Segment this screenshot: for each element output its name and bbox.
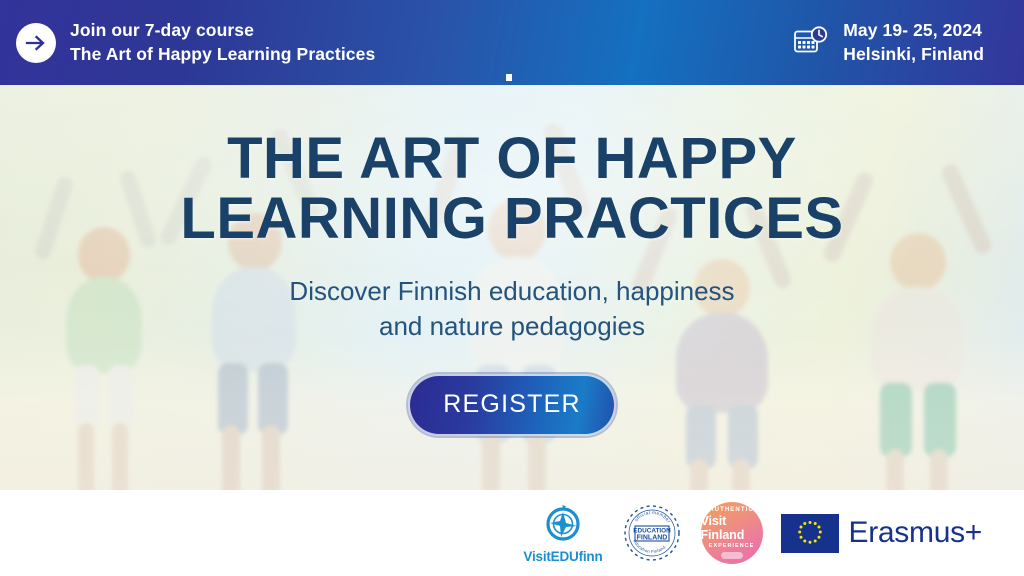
event-dates: May 19- 25, 2024 bbox=[843, 19, 984, 42]
compass-star-icon bbox=[541, 503, 585, 548]
page-title: THE ART OF HAPPY LEARNING PRACTICES bbox=[180, 129, 843, 250]
visit-finland-line-3: EXPERIENCE bbox=[709, 543, 754, 549]
decorative-square bbox=[506, 74, 512, 81]
hero-content: THE ART OF HAPPY LEARNING PRACTICES Disc… bbox=[0, 85, 1024, 490]
logo-education-finland[interactable]: EDUCATION FINLAND official member Educat… bbox=[621, 502, 683, 564]
svg-text:official member: official member bbox=[633, 510, 671, 524]
arrow-right-circle-icon[interactable] bbox=[16, 23, 56, 63]
svg-text:FINLAND: FINLAND bbox=[636, 534, 667, 541]
event-details: May 19- 25, 2024 Helsinki, Finland bbox=[792, 19, 984, 65]
calendar-clock-icon bbox=[792, 24, 830, 62]
course-announcement-text: Join our 7-day course The Art of Happy L… bbox=[70, 19, 375, 65]
page-subtitle: Discover Finnish education, happiness an… bbox=[289, 274, 734, 344]
subtitle-line-1: Discover Finnish education, happiness bbox=[289, 274, 734, 309]
announcement-line-1: Join our 7-day course bbox=[70, 19, 375, 42]
register-button[interactable]: REGISTER bbox=[408, 374, 616, 436]
register-button-wrapper: REGISTER bbox=[408, 374, 616, 436]
eu-flag-icon bbox=[781, 514, 839, 553]
erasmus-plus-label: Erasmus+ bbox=[849, 516, 982, 550]
visit-finland-sub-mark bbox=[721, 552, 743, 559]
title-line-2: LEARNING PRACTICES bbox=[180, 189, 843, 249]
event-details-text: May 19- 25, 2024 Helsinki, Finland bbox=[843, 19, 984, 65]
event-location: Helsinki, Finland bbox=[843, 43, 984, 66]
visit-finland-line-2: Visit Finland bbox=[701, 514, 763, 542]
logo-visitedufinn-label: VisitEDUfinn bbox=[523, 549, 602, 564]
logo-erasmus-plus[interactable]: Erasmus+ bbox=[781, 514, 982, 553]
logo-visitedufinn[interactable]: VisitEDUfinn bbox=[523, 503, 602, 564]
event-promo-banner: Join our 7-day course The Art of Happy L… bbox=[0, 0, 1024, 576]
partner-logo-bar: VisitEDUfinn EDUCATION FINLAND official … bbox=[0, 490, 1024, 576]
announcement-line-2: The Art of Happy Learning Practices bbox=[70, 43, 375, 66]
visit-finland-line-1: AUTHENTIC bbox=[709, 507, 754, 513]
hero-section: THE ART OF HAPPY LEARNING PRACTICES Disc… bbox=[0, 85, 1024, 490]
top-announcement-bar: Join our 7-day course The Art of Happy L… bbox=[0, 0, 1024, 85]
course-announcement: Join our 7-day course The Art of Happy L… bbox=[16, 19, 375, 65]
logo-visit-finland[interactable]: AUTHENTIC Visit Finland EXPERIENCE bbox=[701, 502, 763, 564]
subtitle-line-2: and nature pedagogies bbox=[289, 309, 734, 344]
title-line-1: THE ART OF HAPPY bbox=[180, 129, 843, 189]
